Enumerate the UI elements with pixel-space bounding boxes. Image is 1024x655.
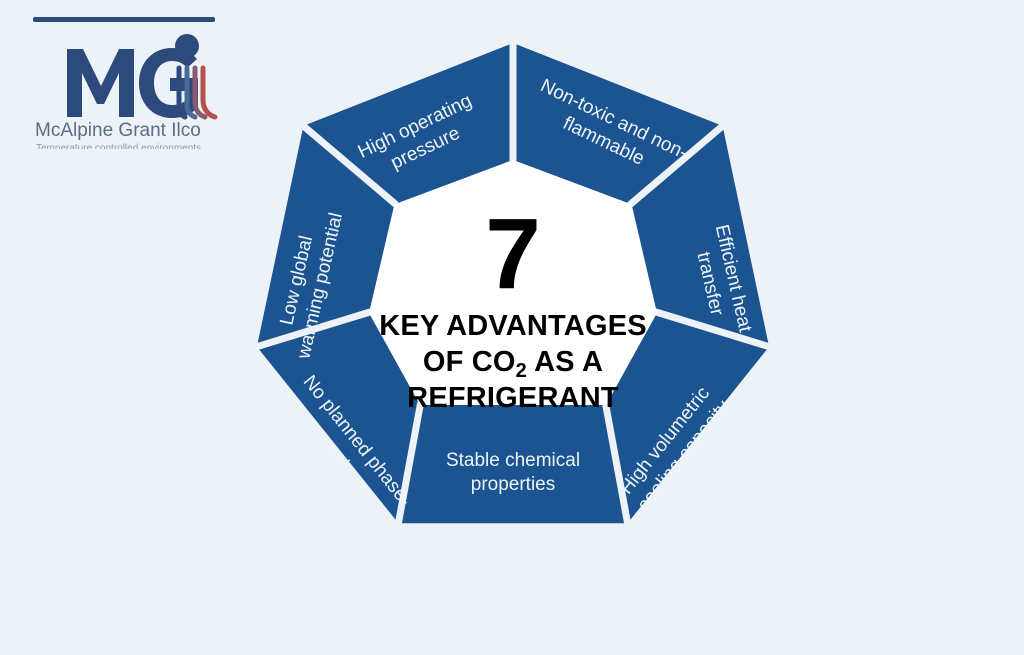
center-title-line-2: OF CO2 AS A: [423, 346, 603, 382]
infographic-canvas: McAlpine Grant Ilco Temperature controll…: [0, 0, 1024, 655]
svg-text:properties: properties: [471, 474, 556, 495]
center-title-line-1: KEY ADVANTAGES: [379, 310, 647, 342]
heptagon-diagram: High operating pressure Non-toxic and no…: [0, 0, 1024, 655]
center-title-line-3: REFRIGERANT: [407, 382, 619, 414]
center-number: 7: [485, 198, 541, 310]
center-title-co-suffix: AS A: [527, 346, 603, 378]
svg-text:Stable chemical: Stable chemical: [446, 450, 580, 471]
center-title-co-prefix: OF CO: [423, 346, 516, 378]
center-title-co2-subscript: 2: [516, 360, 527, 382]
